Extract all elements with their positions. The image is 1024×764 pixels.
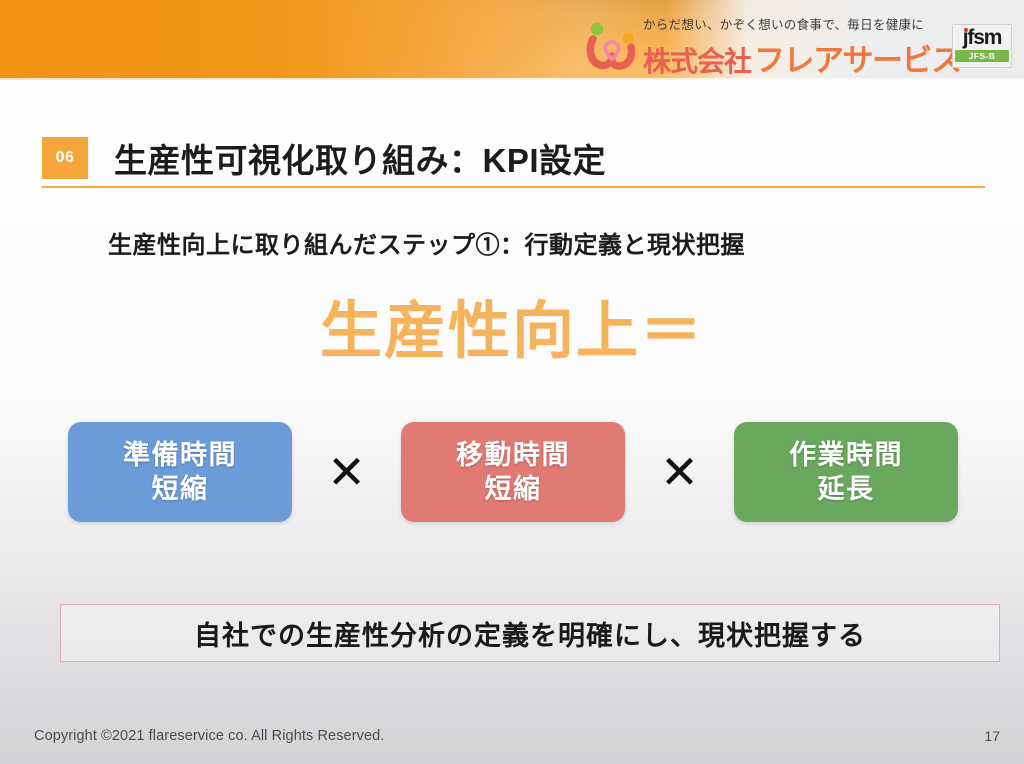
jfsm-wordmark-text: jfsm bbox=[963, 26, 1001, 49]
jfsm-certification-badge: jfsm JFS-B bbox=[952, 24, 1012, 68]
formula-factor-row: 準備時間 短縮 ✕ 移動時間 短縮 ✕ 作業時間 延長 bbox=[68, 420, 958, 524]
factor-box-work-time: 作業時間 延長 bbox=[734, 422, 958, 522]
factor-label-line2: 短縮 bbox=[484, 472, 541, 506]
footer-copyright: Copyright ©2021 flareservice co. All Rig… bbox=[34, 728, 384, 744]
company-brand-name: フレアサービス bbox=[754, 35, 961, 80]
multiply-icon: ✕ bbox=[660, 449, 699, 495]
factor-label-line1: 準備時間 bbox=[123, 438, 237, 472]
section-number-badge: 06 bbox=[42, 137, 88, 179]
company-tagline: からだ想い、かぞく想いの食事で、毎日を健康に bbox=[643, 18, 935, 32]
company-logo-text: からだ想い、かぞく想いの食事で、毎日を健康に 株式会社 フレアサービス bbox=[643, 18, 935, 74]
company-legal-prefix: 株式会社 bbox=[643, 40, 751, 80]
page-title: 生産性可視化取り組み：KPI設定 bbox=[114, 134, 606, 182]
conclusion-text: 自社での生産性分析の定義を明確にし、現状把握する bbox=[194, 614, 866, 653]
factor-label-line2: 短縮 bbox=[152, 472, 209, 506]
company-name: 株式会社 フレアサービス bbox=[643, 35, 935, 80]
jfsm-grade-label: JFS-B bbox=[955, 50, 1009, 62]
factor-label-line1: 作業時間 bbox=[789, 438, 903, 472]
title-underline-rule bbox=[42, 186, 985, 188]
slide-subtitle: 生産性向上に取り組んだステップ①：行動定義と現状把握 bbox=[108, 225, 745, 260]
formula-heading: 生産性向上＝ bbox=[0, 294, 1024, 370]
footer-page-number: 17 bbox=[984, 728, 1000, 744]
conclusion-callout: 自社での生産性分析の定義を明確にし、現状把握する bbox=[60, 604, 1000, 662]
factor-box-travel-time: 移動時間 短縮 bbox=[401, 422, 625, 522]
slide-title-row: 06 生産性可視化取り組み：KPI設定 bbox=[42, 134, 606, 182]
jfsm-wordmark: jfsm bbox=[963, 26, 1001, 49]
factor-label-line2: 延長 bbox=[817, 472, 874, 506]
jfsm-dot-icon bbox=[964, 28, 968, 32]
presentation-slide: からだ想い、かぞく想いの食事で、毎日を健康に 株式会社 フレアサービス jfsm… bbox=[0, 0, 1024, 764]
factor-box-preparation-time: 準備時間 短縮 bbox=[68, 422, 292, 522]
factor-label-line1: 移動時間 bbox=[456, 438, 570, 472]
flare-service-figure-logo-icon bbox=[583, 22, 641, 70]
multiply-icon: ✕ bbox=[327, 449, 366, 495]
